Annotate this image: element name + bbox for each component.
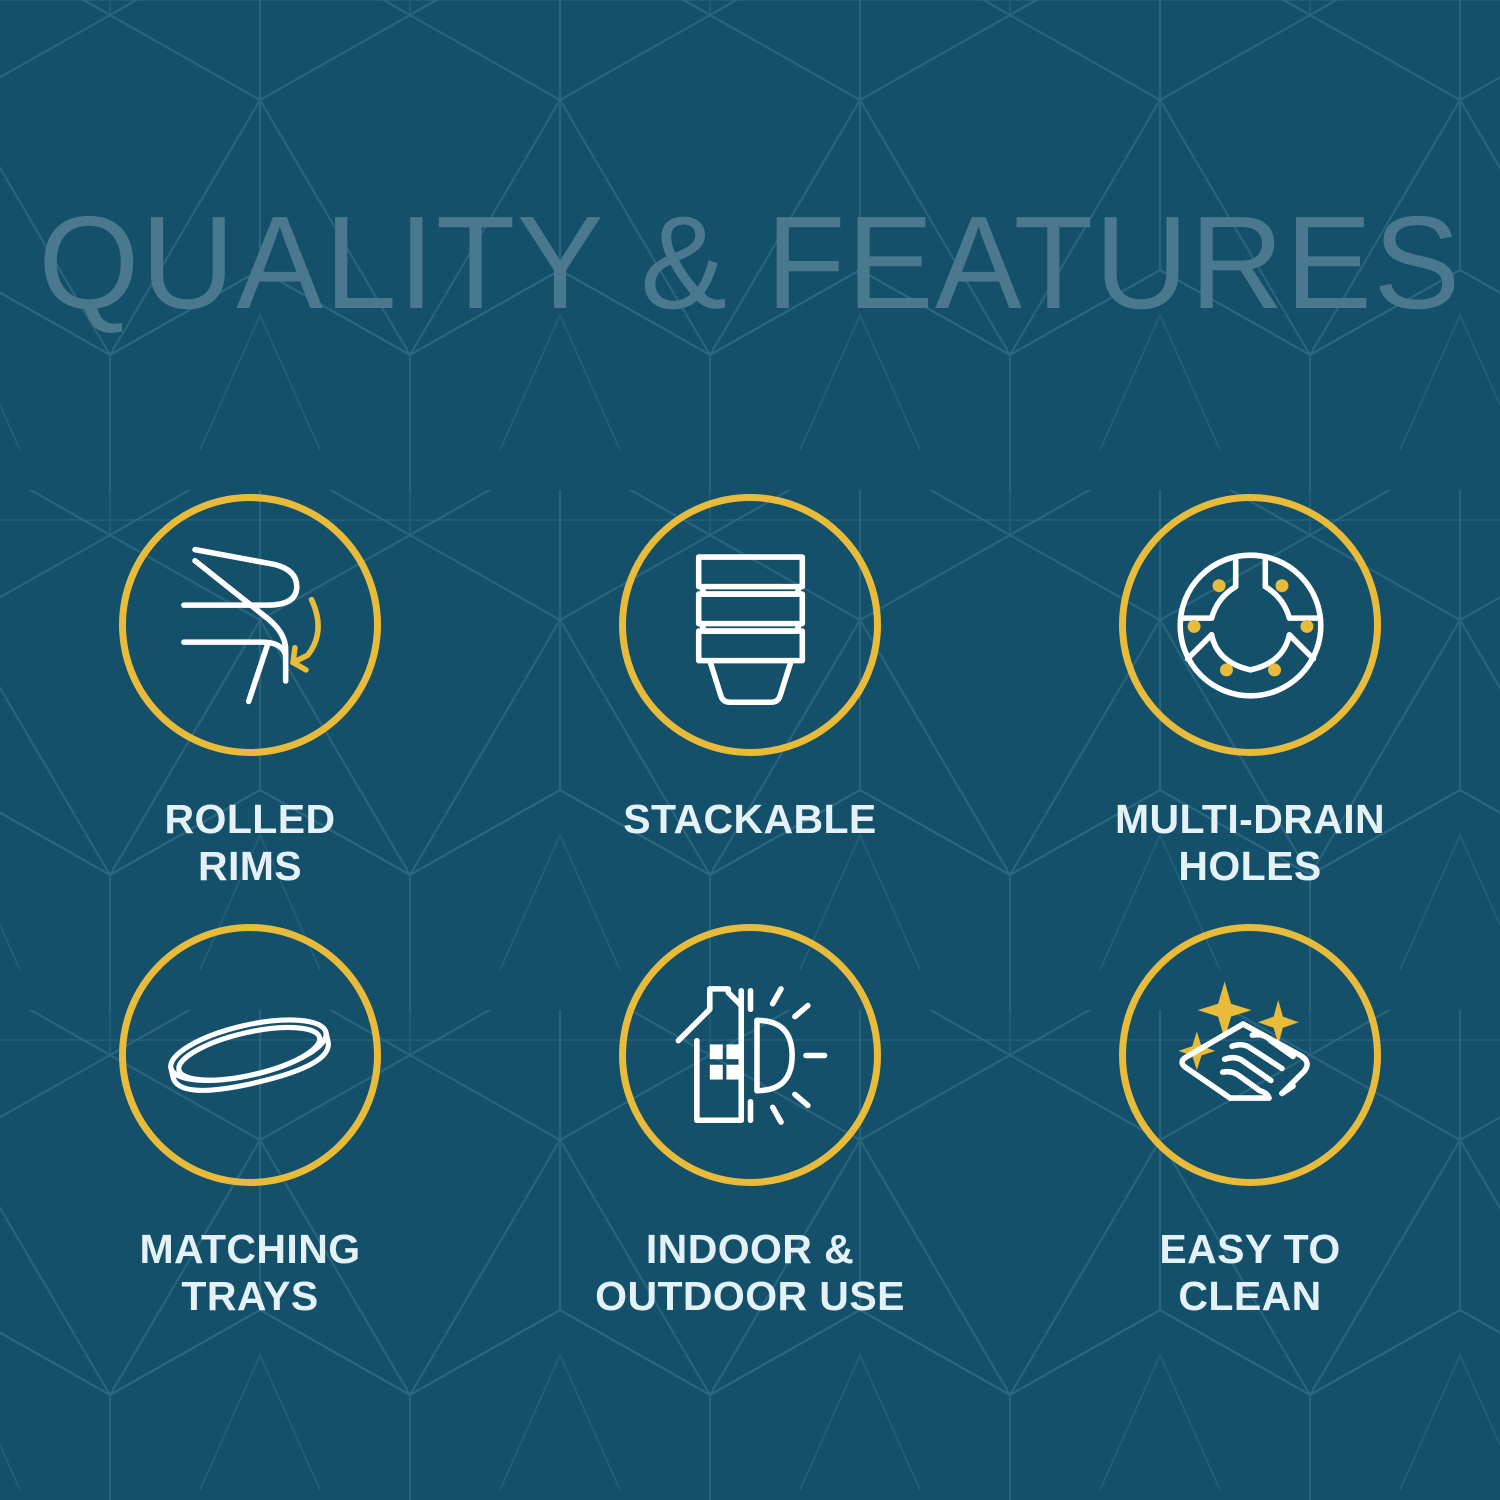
icon-ring	[119, 494, 381, 756]
feature-label: STACKABLE	[623, 796, 876, 843]
feature-label: EASY TO CLEAN	[1159, 1226, 1340, 1320]
feature-label: MULTI-DRAIN HOLES	[1115, 796, 1385, 890]
features-grid: ROLLED RIMS STACKABLE	[0, 470, 1500, 1330]
drain-holes-icon	[1158, 533, 1343, 718]
saucer-tray-icon	[158, 963, 343, 1148]
icon-ring	[1119, 924, 1381, 1186]
wiping-hand-sparkle-icon	[1158, 963, 1343, 1148]
icon-ring	[619, 924, 881, 1186]
feature-easy-to-clean: EASY TO CLEAN	[1000, 900, 1500, 1330]
feature-matching-trays: MATCHING TRAYS	[0, 900, 500, 1330]
house-sun-icon	[658, 963, 843, 1148]
icon-ring	[619, 494, 881, 756]
icon-ring	[119, 924, 381, 1186]
page-title: QUALITY & FEATURES	[11, 193, 1489, 333]
feature-label: ROLLED RIMS	[165, 796, 336, 890]
feature-multi-drain-holes: MULTI-DRAIN HOLES	[1000, 470, 1500, 900]
feature-indoor-outdoor-use: INDOOR & OUTDOOR USE	[500, 900, 1000, 1330]
feature-rolled-rims: ROLLED RIMS	[0, 470, 500, 900]
stacked-pots-icon	[658, 533, 843, 718]
feature-label: INDOOR & OUTDOOR USE	[595, 1226, 905, 1320]
quality-and-features-infographic: QUALITY & FEATURES ROLLED RIMS	[0, 0, 1500, 1500]
rolled-rim-icon	[158, 533, 343, 718]
feature-label: MATCHING TRAYS	[139, 1226, 360, 1320]
feature-stackable: STACKABLE	[500, 470, 1000, 900]
icon-ring	[1119, 494, 1381, 756]
